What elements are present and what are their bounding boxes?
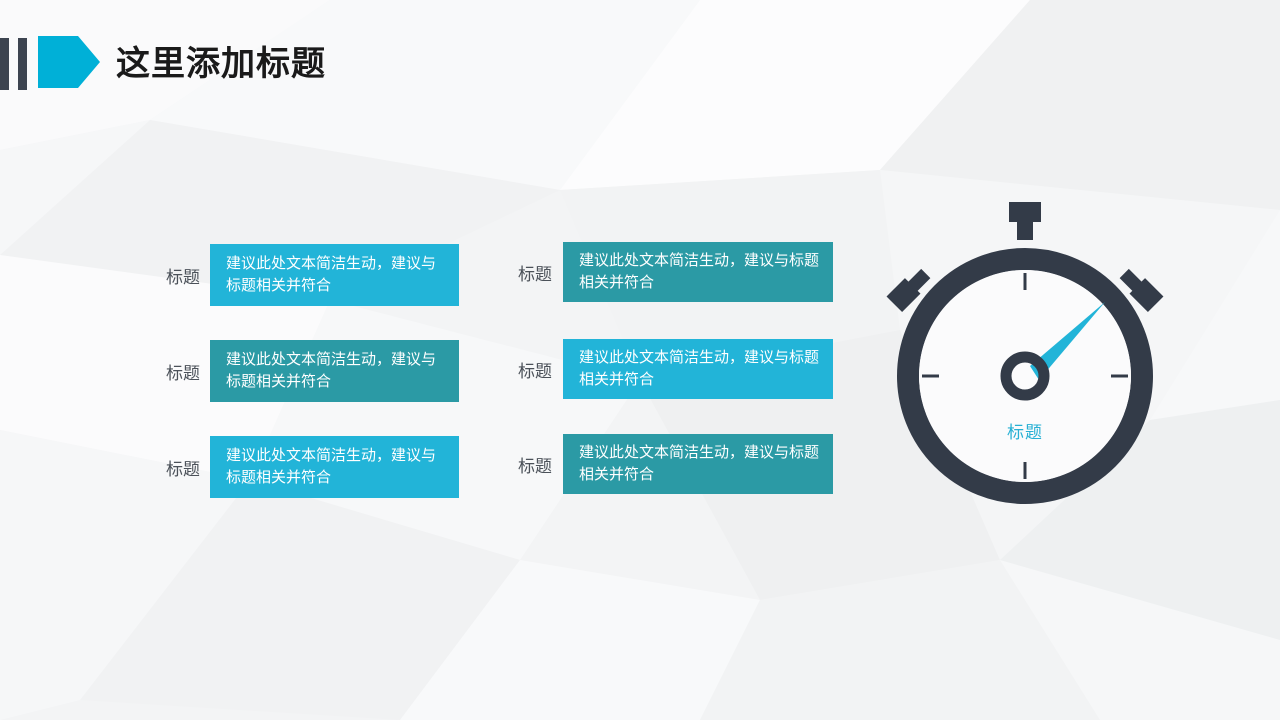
content-row[interactable]: 标题 建议此处文本简洁生动，建议与标题相关并符合 [497, 434, 833, 494]
row-label: 标题 [497, 357, 552, 382]
row-label: 标题 [497, 260, 552, 285]
stopwatch-face [919, 270, 1131, 482]
page-title: 这里添加标题 [116, 47, 326, 81]
stopwatch-tick-top [1024, 273, 1027, 290]
row-text-box[interactable]: 建议此处文本简洁生动，建议与标题相关并符合 [563, 242, 833, 302]
stopwatch-tick-bottom [1024, 462, 1027, 479]
row-text: 建议此处文本简洁生动，建议与标题相关并符合 [226, 349, 445, 393]
stopwatch-label: 标题 [860, 418, 1190, 443]
header-bar-left-1 [0, 38, 9, 90]
header-arrow-icon [38, 36, 100, 93]
row-text: 建议此处文本简洁生动，建议与标题相关并符合 [579, 250, 819, 294]
header-bar-left-2 [18, 38, 27, 90]
row-label: 标题 [145, 263, 200, 288]
slide-header: 这里添加标题 [0, 38, 326, 90]
row-text-box[interactable]: 建议此处文本简洁生动，建议与标题相关并符合 [563, 339, 833, 399]
slide-canvas: 这里添加标题 标题 建议此处文本简洁生动，建议与标题相关并符合 标题 建议此处文… [0, 0, 1280, 720]
stopwatch-tick-right [1111, 375, 1128, 378]
row-text-box[interactable]: 建议此处文本简洁生动，建议与标题相关并符合 [563, 434, 833, 494]
row-label: 标题 [497, 452, 552, 477]
content-row[interactable]: 标题 建议此处文本简洁生动，建议与标题相关并符合 [497, 339, 833, 399]
content-row[interactable]: 标题 建议此处文本简洁生动，建议与标题相关并符合 [145, 244, 459, 306]
content-row[interactable]: 标题 建议此处文本简洁生动，建议与标题相关并符合 [145, 436, 459, 498]
content-row[interactable]: 标题 建议此处文本简洁生动，建议与标题相关并符合 [145, 340, 459, 402]
row-text-box[interactable]: 建议此处文本简洁生动，建议与标题相关并符合 [210, 436, 459, 498]
row-label: 标题 [145, 359, 200, 384]
content-row[interactable]: 标题 建议此处文本简洁生动，建议与标题相关并符合 [497, 242, 833, 302]
row-text-box[interactable]: 建议此处文本简洁生动，建议与标题相关并符合 [210, 340, 459, 402]
stopwatch-graphic: 标题 [860, 180, 1190, 510]
stopwatch-tick-left [922, 375, 939, 378]
row-text: 建议此处文本简洁生动，建议与标题相关并符合 [579, 347, 819, 391]
row-text-box[interactable]: 建议此处文本简洁生动，建议与标题相关并符合 [210, 244, 459, 306]
row-label: 标题 [145, 455, 200, 480]
row-text: 建议此处文本简洁生动，建议与标题相关并符合 [226, 445, 445, 489]
row-text: 建议此处文本简洁生动，建议与标题相关并符合 [226, 253, 445, 297]
row-text: 建议此处文本简洁生动，建议与标题相关并符合 [579, 442, 819, 486]
stopwatch-crown-icon [1009, 202, 1041, 240]
